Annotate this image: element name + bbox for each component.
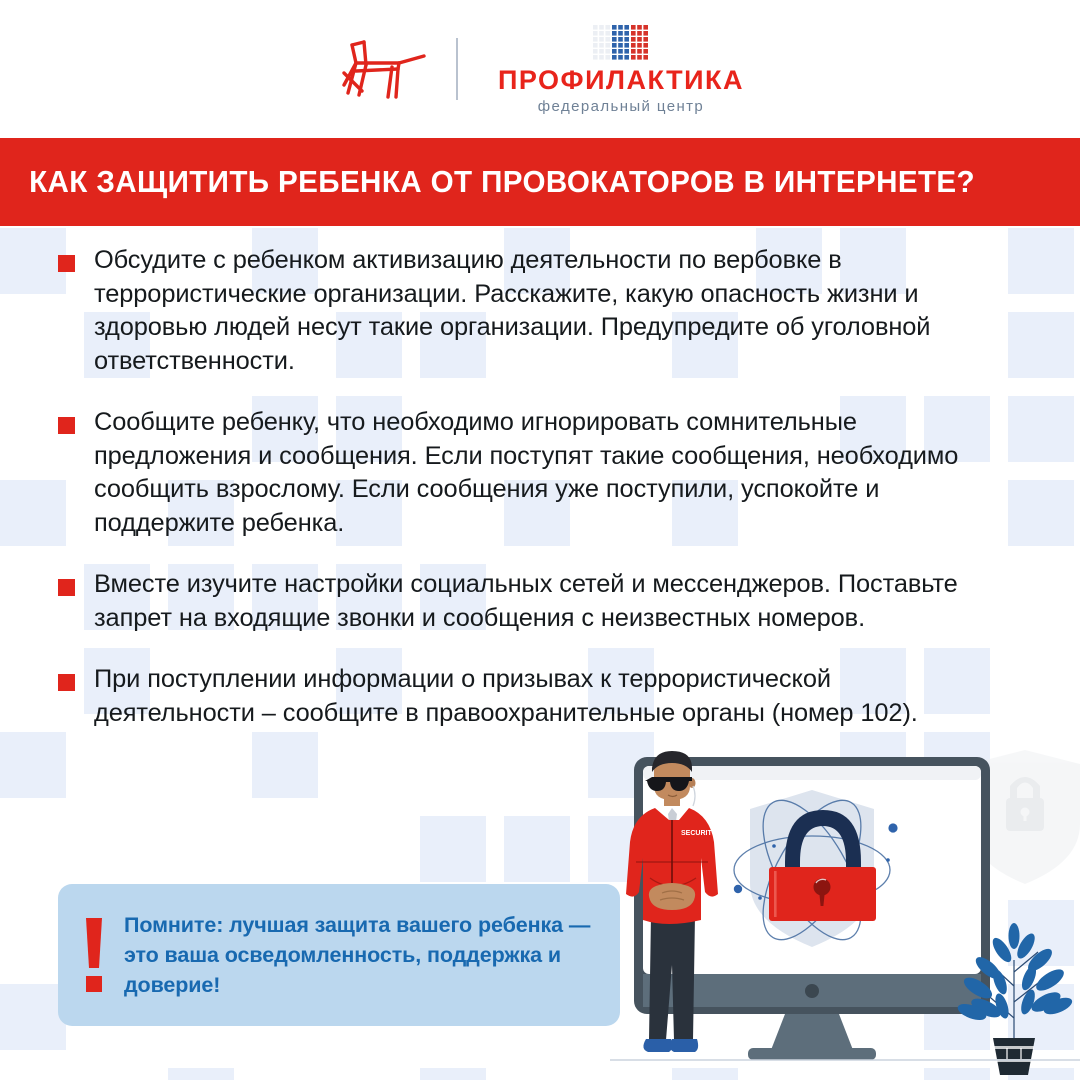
list-item: Сообщите ребенку, что необходимо игнорир… (58, 406, 1010, 540)
advice-list: Обсудите с ребенком активизацию деятельн… (0, 244, 1010, 758)
flag-grid-icon (593, 25, 649, 61)
brand-subtitle: федеральный центр (538, 99, 704, 114)
reminder-text: Помните: лучшая защита вашего ребенка — … (124, 910, 620, 1000)
list-item-text: Сообщите ребенку, что необходимо игнорир… (94, 406, 994, 540)
background-square (420, 1068, 486, 1080)
page-title: КАК ЗАЩИТИТЬ РЕБЕНКА ОТ ПРОВОКАТОРОВ В И… (0, 165, 975, 200)
background-square (0, 984, 66, 1050)
background-square (168, 1068, 234, 1080)
logo-divider (456, 38, 458, 100)
background-square (1008, 228, 1074, 294)
bullet-marker-icon (58, 674, 75, 691)
background-square (1008, 480, 1074, 546)
list-item: Вместе изучите настройки социальных сете… (58, 568, 1010, 635)
brand-name: ПРОФИЛАКТИКА (498, 67, 744, 94)
exclamation-mark-icon (84, 918, 104, 992)
illustration-scene: SECURITY (610, 750, 1080, 1080)
list-item-text: Вместе изучите настройки социальных сете… (94, 568, 994, 635)
poster-root: ПРОФИЛАКТИКА федеральный центр КАК ЗАЩИТ… (0, 0, 1080, 1080)
title-banner: КАК ЗАЩИТИТЬ РЕБЕНКА ОТ ПРОВОКАТОРОВ В И… (0, 138, 1080, 226)
brand-block: ПРОФИЛАКТИКА федеральный центр (498, 25, 744, 114)
background-square (420, 816, 486, 882)
bullet-marker-icon (58, 579, 75, 596)
list-item-text: При поступлении информации о призывах к … (94, 663, 994, 730)
background-square (1008, 396, 1074, 462)
list-item: Обсудите с ребенком активизацию деятельн… (58, 244, 1010, 378)
bullet-marker-icon (58, 417, 75, 434)
list-item-text: Обсудите с ребенком активизацию деятельн… (94, 244, 994, 378)
background-square (1008, 312, 1074, 378)
reminder-callout: Помните: лучшая защита вашего ребенка — … (58, 884, 620, 1026)
logo-bar: ПРОФИЛАКТИКА федеральный центр (0, 0, 1080, 138)
background-square (504, 816, 570, 882)
bullet-marker-icon (58, 255, 75, 272)
horse-line-art-icon (336, 33, 428, 105)
jacket-label: SECURITY (681, 830, 717, 837)
list-item: При поступлении информации о призывах к … (58, 663, 1010, 730)
